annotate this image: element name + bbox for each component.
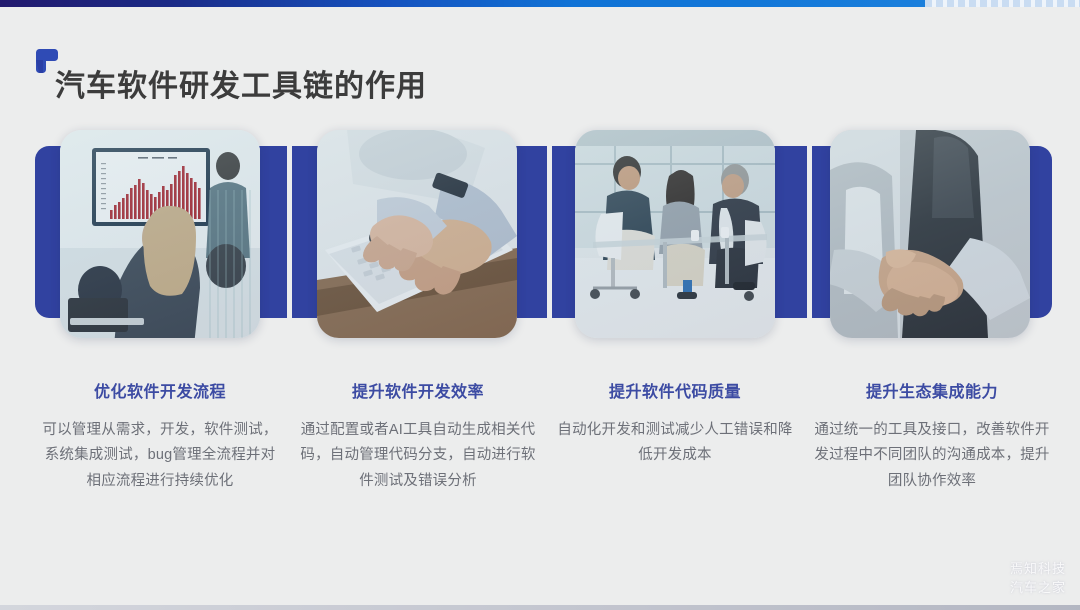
photo-card-1[interactable] bbox=[60, 130, 260, 338]
photo-card-row bbox=[0, 0, 1080, 610]
hands-typing-laptop-photo bbox=[317, 130, 517, 338]
caption-title: 优化软件开发流程 bbox=[40, 378, 280, 402]
caption-block-3: 提升软件代码质量 自动化开发和测试减少人工错误和降低开发成本 bbox=[555, 378, 795, 469]
photo-card-4[interactable] bbox=[830, 130, 1030, 338]
watermark: 焉知科技 汽车之家 bbox=[1010, 560, 1066, 598]
caption-title: 提升软件代码质量 bbox=[555, 378, 795, 402]
photo-card-3[interactable] bbox=[575, 130, 775, 338]
team-meeting-glass-table-photo bbox=[575, 130, 775, 338]
caption-block-4: 提升生态集成能力 通过统一的工具及接口，改善软件开发过程中不同团队的沟通成本，提… bbox=[812, 378, 1052, 494]
caption-body: 通过统一的工具及接口，改善软件开发过程中不同团队的沟通成本，提升团队协作效率 bbox=[812, 418, 1052, 494]
caption-title: 提升软件开发效率 bbox=[298, 378, 538, 402]
caption-title: 提升生态集成能力 bbox=[812, 378, 1052, 402]
caption-body: 通过配置或者AI工具自动生成相关代码，自动管理代码分支，自动进行软件测试及错误分… bbox=[298, 418, 538, 494]
caption-body: 可以管理从需求，开发，软件测试，系统集成测试，bug管理全流程并对相应流程进行持… bbox=[40, 418, 280, 494]
caption-block-2: 提升软件开发效率 通过配置或者AI工具自动生成相关代码，自动管理代码分支，自动进… bbox=[298, 378, 538, 494]
bottom-edge-strip bbox=[0, 605, 1080, 610]
watermark-line-2: 汽车之家 bbox=[1010, 579, 1066, 598]
slide-root: 汽车软件研发工具链的作用 bbox=[0, 0, 1080, 610]
watermark-line-1: 焉知科技 bbox=[1010, 560, 1066, 579]
caption-body: 自动化开发和测试减少人工错误和降低开发成本 bbox=[555, 418, 795, 469]
handshake-photo bbox=[830, 130, 1030, 338]
photo-card-2[interactable] bbox=[317, 130, 517, 338]
caption-block-1: 优化软件开发流程 可以管理从需求，开发，软件测试，系统集成测试，bug管理全流程… bbox=[40, 378, 280, 494]
meeting-room-bar-chart-photo bbox=[60, 130, 260, 338]
